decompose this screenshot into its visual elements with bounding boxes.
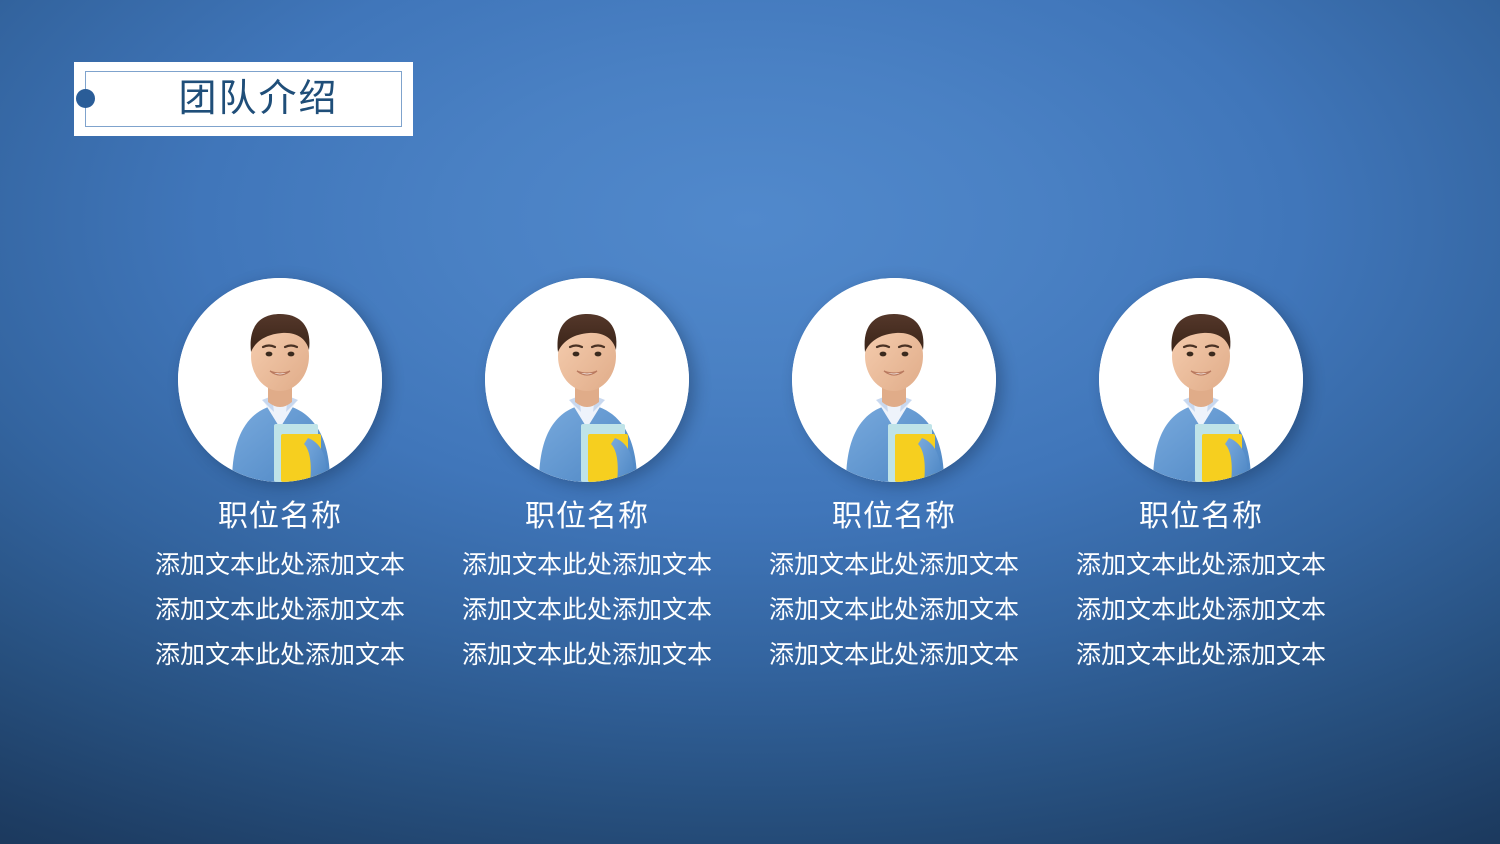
member-description-line: 添加文本此处添加文本: [1047, 633, 1355, 678]
team-member-card[interactable]: 职位名称 添加文本此处添加文本 添加文本此处添加文本 添加文本此处添加文本: [126, 278, 434, 678]
member-description-line: 添加文本此处添加文本: [433, 588, 741, 633]
member-description-line: 添加文本此处添加文本: [126, 588, 434, 633]
member-description-line: 添加文本此处添加文本: [126, 633, 434, 678]
member-description-line: 添加文本此处添加文本: [433, 633, 741, 678]
member-description-line: 添加文本此处添加文本: [1047, 588, 1355, 633]
team-member-card[interactable]: 职位名称 添加文本此处添加文本 添加文本此处添加文本 添加文本此处添加文本: [1047, 278, 1355, 678]
member-role: 职位名称: [433, 500, 741, 533]
member-description-line: 添加文本此处添加文本: [433, 543, 741, 588]
team-member-card[interactable]: 职位名称 添加文本此处添加文本 添加文本此处添加文本 添加文本此处添加文本: [433, 278, 741, 678]
member-description-line: 添加文本此处添加文本: [740, 588, 1048, 633]
person-photo-avatar[interactable]: [792, 278, 996, 482]
team-member-card[interactable]: 职位名称 添加文本此处添加文本 添加文本此处添加文本 添加文本此处添加文本: [740, 278, 1048, 678]
slide-canvas: 团队介绍: [0, 0, 1500, 844]
member-description: 添加文本此处添加文本 添加文本此处添加文本 添加文本此处添加文本: [433, 543, 741, 678]
member-description-line: 添加文本此处添加文本: [740, 633, 1048, 678]
member-role: 职位名称: [1047, 500, 1355, 533]
member-role: 职位名称: [740, 500, 1048, 533]
member-description: 添加文本此处添加文本 添加文本此处添加文本 添加文本此处添加文本: [1047, 543, 1355, 678]
page-title: 团队介绍: [74, 62, 413, 136]
member-description-line: 添加文本此处添加文本: [1047, 543, 1355, 588]
person-photo-avatar[interactable]: [485, 278, 689, 482]
person-photo-avatar[interactable]: [178, 278, 382, 482]
member-description: 添加文本此处添加文本 添加文本此处添加文本 添加文本此处添加文本: [740, 543, 1048, 678]
member-role: 职位名称: [126, 500, 434, 533]
slide-title-plate: 团队介绍: [74, 62, 413, 136]
member-description: 添加文本此处添加文本 添加文本此处添加文本 添加文本此处添加文本: [126, 543, 434, 678]
member-description-line: 添加文本此处添加文本: [126, 543, 434, 588]
member-description-line: 添加文本此处添加文本: [740, 543, 1048, 588]
person-photo-avatar[interactable]: [1099, 278, 1303, 482]
